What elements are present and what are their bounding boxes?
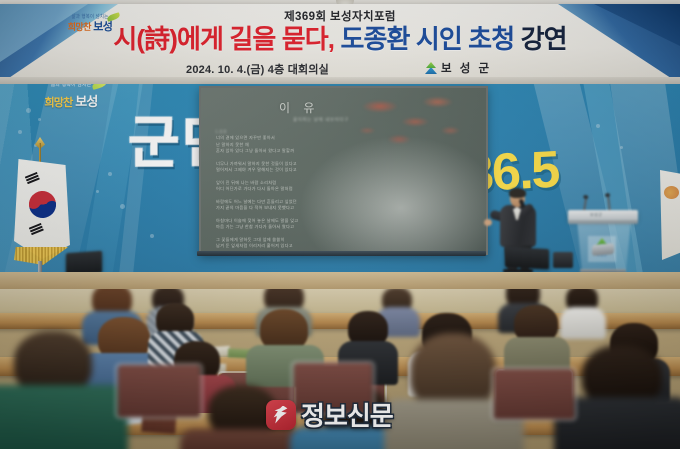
- wall-boseong-logo: 삶과 행복이 넘치는 희망찬 보성: [34, 84, 108, 115]
- poem-line: 가지 끝의 마음을 다 적어 보내지 못했다고: [216, 205, 336, 212]
- poem-line: 마음 가는 그냥 한참 가다가 돌아서 왔다고: [216, 224, 336, 231]
- slide-title: 이 유: [279, 99, 319, 116]
- banner-date-venue: 2024. 10. 4.(금) 4층 대회의실: [186, 61, 329, 77]
- wall-bubble: [96, 190, 99, 193]
- wall-bubble: [150, 234, 154, 238]
- wall-bubble: [120, 204, 125, 209]
- secondary-flag: [660, 170, 680, 260]
- banner-title: 시(詩)에게 길을 묻다, 도종환 시인 초청 강연: [0, 25, 680, 54]
- wall-bubble: [38, 118, 41, 121]
- poem-stanza: 너의 곁에 있으면 자꾸만 좋아서 난 말하지 못한 채 혼자 앉아 있다 그냥…: [216, 135, 336, 155]
- wall-bubble: [18, 130, 22, 134]
- lectern-podium: 보성군 보성군: [568, 200, 638, 274]
- banner-organization-label: 보 성 군: [441, 60, 492, 76]
- av-monitor-right: [505, 247, 549, 269]
- banner-subtitle: 제369회 보성자치포럼: [0, 8, 680, 24]
- poem-stanza: 아침마다 이슬에 젖어 놓은 날에도 말을 잊고 마음 가는 그냥 한참 가다가…: [216, 218, 336, 231]
- wall-logo-main: 보성: [75, 94, 97, 109]
- projection-screen-base: [197, 251, 486, 256]
- slide-poem-body: 너의 곁에 있으면 자꾸만 좋아서 난 말하지 못한 채 혼자 앉아 있다 그냥…: [216, 135, 336, 255]
- wall-bubble: [26, 108, 31, 113]
- poem-stanza: 바람에도 어느 날에는 다만 흔들리고 싶었던 가지 끝의 마음을 다 적어 보…: [216, 199, 336, 212]
- secondary-flag-emblem-icon: [664, 186, 679, 199]
- poem-stanza: 잎이 진 뒤에 나는 바람 소리처럼 어디 어딘가로 가다가 다시 돌아온 말처…: [216, 180, 336, 193]
- press-logo-icon: [266, 400, 296, 430]
- press-watermark-text: 정보신문: [301, 396, 393, 433]
- poem-line: 남겨 둔 잎새처럼 이리저리 흩어져 있다고: [216, 243, 336, 250]
- banner-title-part3: 강연: [521, 24, 567, 54]
- poem-stanza: 너무나 가까워서 말하지 못한 것들이 있다고 멀어져서 그제야 겨우 말해지는…: [216, 161, 336, 174]
- speaker-left-hand: [484, 219, 492, 226]
- projection-screen: 이 유 꽃이피는 날에 내보이다구 도종환 너의 곁에 있으면 자꾸만 좋아서 …: [199, 86, 488, 255]
- slide-subtitle: 꽃이피는 날에 내보이다구: [293, 117, 349, 123]
- poem-line: 어디 어딘가로 가다가 다시 돌아온 말처럼: [216, 186, 336, 193]
- audience-person: [0, 331, 118, 449]
- forum-lecture-photo: 삶과 행복이 넘치는 희망찬 보성 제369회 보성자치포럼 시(詩)에게 길을…: [0, 0, 680, 449]
- poem-line: 멀어져서 그제야 겨우 말해지는 것이 있다고: [216, 167, 336, 174]
- person-clothing: [0, 385, 128, 449]
- poem-line: 혼자 앉아 있다 그냥 돌아서 왔다고 말할까: [216, 148, 336, 155]
- av-speaker-box: [553, 252, 573, 268]
- audience-chair: [494, 369, 574, 419]
- wall-bubble: [108, 172, 112, 176]
- wall-bubble: [620, 146, 623, 149]
- event-banner: 삶과 행복이 넘치는 희망찬 보성 제369회 보성자치포럼 시(詩)에게 길을…: [0, 4, 680, 84]
- av-desk-lamp: [592, 243, 614, 256]
- lectern-label: 보성군: [590, 212, 603, 218]
- wall-logo-name: 희망찬 보성: [34, 91, 108, 110]
- lectern-top-lip: [568, 220, 638, 224]
- banner-organization: 보 성 군: [425, 60, 492, 76]
- banner-title-part1: 시(詩)에게 길을 묻다,: [113, 24, 334, 54]
- audience-person: [560, 345, 680, 449]
- press-watermark: 정보신문: [266, 396, 393, 433]
- poem-stanza: 그 꽃들에게 말하듯 그대 앞에 쓸쓸히 남겨 둔 잎새처럼 이리저리 흩어져 …: [216, 237, 336, 250]
- boseong-emblem-icon: [425, 62, 437, 74]
- speaker-hair: [509, 188, 526, 198]
- banner-bottom-strip: [0, 77, 680, 84]
- wall-bubble: [596, 124, 600, 128]
- wall-logo-accent: 희망찬: [44, 97, 72, 109]
- audience-chair: [118, 365, 200, 417]
- banner-title-part2: 도종환 시인 초청: [340, 24, 514, 54]
- presentation-slide: 이 유 꽃이피는 날에 내보이다구 도종환 너의 곁에 있으면 자꾸만 좋아서 …: [201, 88, 486, 253]
